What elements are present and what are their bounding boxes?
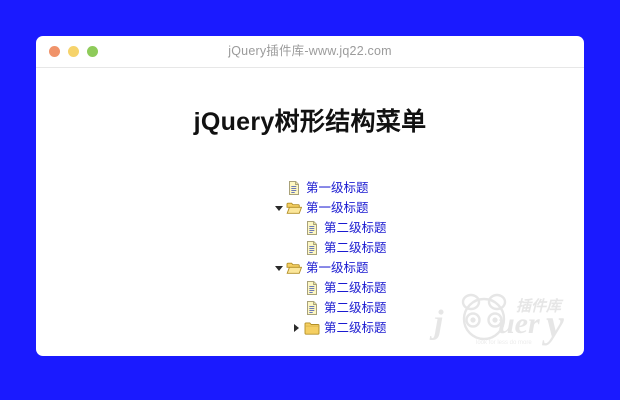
svg-text:look for less do more: look for less do more	[476, 340, 532, 346]
file-icon	[304, 280, 320, 296]
tree-node[interactable]: 第一级标题	[36, 178, 584, 198]
page-title: jQuery树形结构菜单	[36, 68, 584, 138]
chevron-down-icon[interactable]	[274, 198, 283, 218]
tree-node[interactable]: 第二级标题	[36, 298, 584, 318]
file-icon	[304, 300, 320, 316]
tree-node-label[interactable]: 第二级标题	[324, 220, 387, 236]
tree-node-label[interactable]: 第一级标题	[306, 260, 369, 276]
tree-node-label[interactable]: 第二级标题	[324, 240, 387, 256]
window-title: jQuery插件库-www.jq22.com	[36, 36, 584, 67]
tree-node-label[interactable]: 第二级标题	[324, 300, 387, 316]
file-icon	[304, 240, 320, 256]
tree-node[interactable]: 第一级标题	[36, 258, 584, 278]
file-icon	[304, 220, 320, 236]
tree-node[interactable]: 第二级标题	[36, 218, 584, 238]
browser-window-card: jQuery插件库-www.jq22.com jQuery树形结构菜单 第一级标…	[36, 36, 584, 356]
tree-node[interactable]: 第一级标题	[36, 198, 584, 218]
chevron-down-icon[interactable]	[274, 258, 283, 278]
tree-node[interactable]: 第二级标题	[36, 278, 584, 298]
tree-node-label[interactable]: 第二级标题	[324, 280, 387, 296]
folder-open-icon	[286, 200, 302, 216]
tree-node-label[interactable]: 第一级标题	[306, 180, 369, 196]
tree-node-label[interactable]: 第一级标题	[306, 200, 369, 216]
tree-node[interactable]: 第二级标题	[36, 318, 584, 338]
app-root: jQuery插件库-www.jq22.com jQuery树形结构菜单 第一级标…	[0, 0, 620, 400]
folder-open-icon	[286, 260, 302, 276]
window-titlebar: jQuery插件库-www.jq22.com	[36, 36, 584, 68]
file-icon	[286, 180, 302, 196]
chevron-right-icon[interactable]	[292, 318, 301, 338]
tree-menu: 第一级标题第一级标题第二级标题第二级标题第一级标题第二级标题第二级标题第二级标题	[36, 178, 584, 338]
page-content: jQuery树形结构菜单 第一级标题第一级标题第二级标题第二级标题第一级标题第二…	[36, 68, 584, 355]
tree-node[interactable]: 第二级标题	[36, 238, 584, 258]
tree-node-label[interactable]: 第二级标题	[324, 320, 387, 336]
folder-closed-icon	[304, 320, 320, 336]
